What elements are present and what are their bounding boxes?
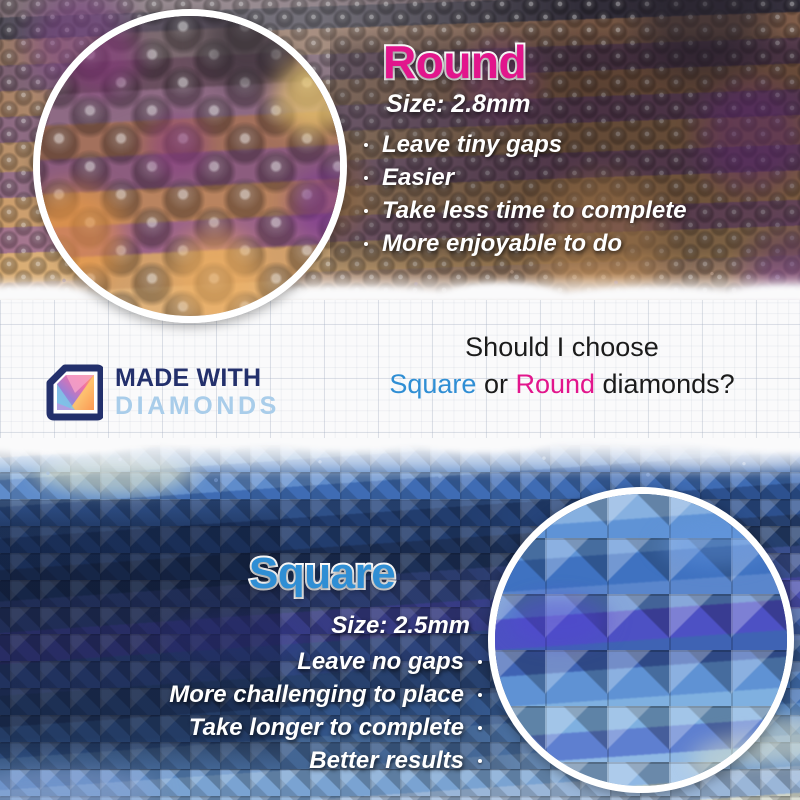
bullet-dot-icon: [364, 209, 368, 213]
bullet-dot-icon: [478, 660, 482, 664]
bullet-dot-icon: [364, 176, 368, 180]
question-line-1: Should I choose: [465, 332, 659, 362]
list-item-label: Easier: [382, 161, 454, 194]
list-item-label: More challenging to place: [169, 678, 464, 711]
list-item-label: More enjoyable to do: [382, 227, 622, 260]
square-title: Square: [249, 549, 395, 599]
question-line-2: Square or Round diamonds?: [352, 367, 772, 402]
headline-question: Should I choose Square or Round diamonds…: [352, 330, 772, 402]
square-magnifier-circle: [488, 487, 794, 793]
square-benefits-list: Leave no gaps More challenging to place …: [169, 645, 482, 777]
list-item: More enjoyable to do: [364, 227, 687, 260]
list-item: Take longer to complete: [169, 711, 482, 744]
diamond-gem-icon: [45, 363, 103, 421]
bullet-dot-icon: [478, 759, 482, 763]
question-word-round: Round: [515, 369, 595, 399]
list-item-label: Leave tiny gaps: [382, 128, 562, 161]
question-word-tail: diamonds?: [595, 369, 735, 399]
bullet-dot-icon: [478, 693, 482, 697]
bullet-dot-icon: [478, 726, 482, 730]
square-magnifier-speckle: [488, 487, 794, 793]
list-item: Leave tiny gaps: [364, 128, 687, 161]
bullet-dot-icon: [364, 143, 368, 147]
round-magnifier-speckle: [33, 9, 347, 323]
brand-logo-text: MADE WITH DIAMONDS: [115, 366, 280, 419]
list-item-label: Take less time to complete: [382, 194, 687, 227]
bullet-dot-icon: [364, 242, 368, 246]
brand-logo-line1: MADE WITH: [115, 366, 280, 391]
round-title: Round: [383, 35, 526, 89]
list-item: Better results: [169, 744, 482, 777]
list-item-label: Leave no gaps: [297, 645, 464, 678]
list-item: Leave no gaps: [169, 645, 482, 678]
round-magnifier-circle: [33, 9, 347, 323]
list-item: Easier: [364, 161, 687, 194]
round-benefits-list: Leave tiny gaps Easier Take less time to…: [364, 128, 687, 260]
list-item: More challenging to place: [169, 678, 482, 711]
brand-logo: MADE WITH DIAMONDS: [45, 363, 280, 421]
brand-logo-line2: DIAMONDS: [115, 394, 280, 419]
question-word-or: or: [476, 369, 515, 399]
list-item-label: Better results: [309, 744, 464, 777]
square-size-label: Size: 2.5mm: [331, 612, 470, 640]
list-item-label: Take longer to complete: [189, 711, 464, 744]
infographic-canvas: Round Size: 2.8mm Leave tiny gaps Easier…: [0, 0, 800, 800]
question-word-square: Square: [389, 369, 476, 399]
round-size-label: Size: 2.8mm: [386, 90, 531, 119]
list-item: Take less time to complete: [364, 194, 687, 227]
